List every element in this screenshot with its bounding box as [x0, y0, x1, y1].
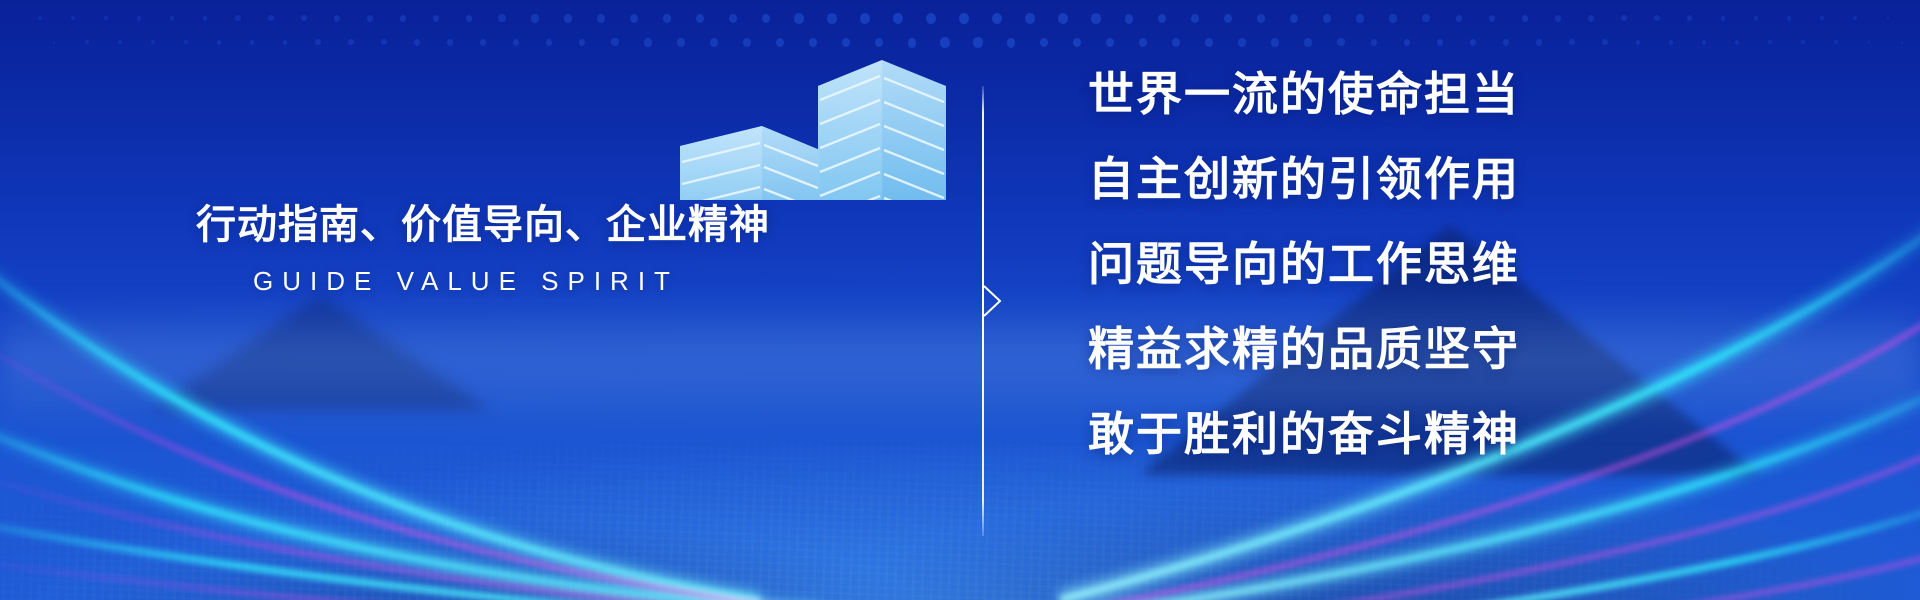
right-slogan-line: 精益求精的品质坚守	[1088, 307, 1628, 392]
corporate-culture-banner: 行动指南、价值导向、企业精神 GUIDE VALUE SPIRIT 世界一流的使…	[0, 0, 1920, 600]
vertical-divider-chevron-icon	[982, 86, 1004, 536]
skyscraper-icon	[0, 0, 1920, 200]
right-slogan-line: 世界一流的使命担当	[1088, 52, 1628, 137]
left-text-block: 行动指南、价值导向、企业精神 GUIDE VALUE SPIRIT	[196, 200, 736, 297]
right-slogan-line: 问题导向的工作思维	[1088, 222, 1628, 307]
right-text-block: 世界一流的使命担当自主创新的引领作用问题导向的工作思维精益求精的品质坚守敢于胜利…	[1088, 52, 1628, 477]
chevron-right-icon	[983, 284, 1003, 318]
right-slogan-line: 自主创新的引领作用	[1088, 137, 1628, 222]
left-subtitle: GUIDE VALUE SPIRIT	[196, 266, 736, 297]
right-slogan-line: 敢于胜利的奋斗精神	[1088, 392, 1628, 477]
left-title: 行动指南、价值导向、企业精神	[196, 200, 736, 250]
city-texture	[0, 390, 1920, 600]
